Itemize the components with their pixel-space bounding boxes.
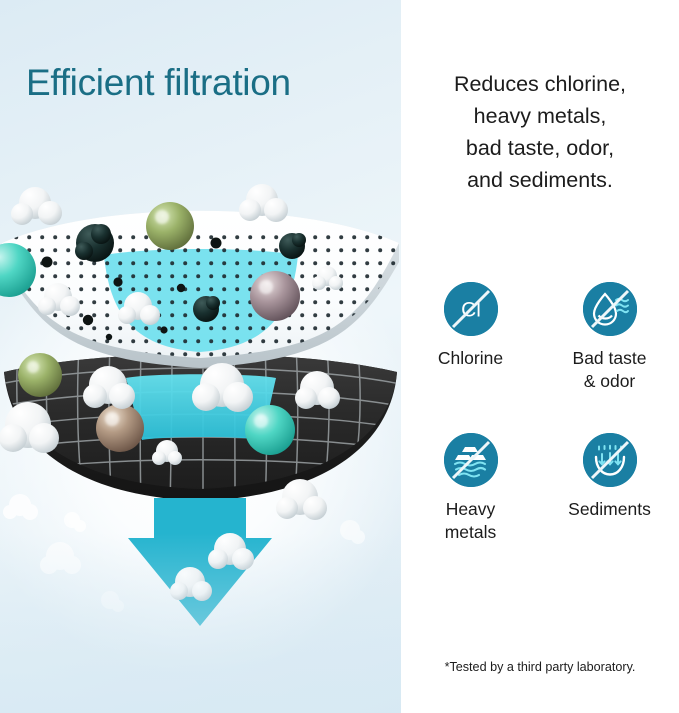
- feature-sediments-label-line-1: Sediments: [568, 498, 651, 521]
- headline-line-4: and sediments.: [401, 164, 679, 196]
- feature-bad-taste-odor-label-line-1: Bad taste: [573, 347, 647, 370]
- white-clump-faint: [340, 520, 365, 544]
- product-feature-graphic: Efficient filtration Reduces chlorine, h…: [0, 0, 679, 713]
- feature-chlorine: Cl Chlorine: [401, 282, 540, 393]
- feature-heavy-metals: Heavy metals: [401, 433, 540, 544]
- feature-heavy-metals-label-line-2: metals: [445, 521, 497, 544]
- particle-sphere: [245, 405, 295, 455]
- white-clump-faint: [40, 542, 81, 574]
- particle-sphere: [96, 404, 144, 452]
- feature-bad-taste-odor-label-line-2: & odor: [573, 370, 647, 393]
- particle-sphere: [18, 353, 62, 397]
- feature-row-1: Cl Chlorine: [401, 282, 679, 393]
- illustration-panel: Efficient filtration: [0, 0, 401, 713]
- heavy-metals-blocked-icon: [444, 433, 498, 487]
- bad-taste-odor-blocked-icon: [583, 282, 637, 336]
- feature-grid: Cl Chlorine: [401, 282, 679, 544]
- particle-sphere: [146, 202, 194, 250]
- white-clump-faint: [64, 512, 86, 532]
- chlorine-blocked-icon: Cl: [444, 282, 498, 336]
- feature-sediments-label: Sediments: [568, 498, 651, 521]
- headline-line-1: Reduces chlorine,: [401, 68, 679, 100]
- feature-sediments: Sediments: [540, 433, 679, 544]
- footnote: *Tested by a third party laboratory.: [401, 660, 679, 674]
- white-clump-faint: [3, 494, 38, 520]
- feature-chlorine-label: Chlorine: [438, 347, 503, 370]
- feature-heavy-metals-label-line-1: Heavy: [445, 498, 497, 521]
- feature-bad-taste-odor: Bad taste & odor: [540, 282, 679, 393]
- headline: Reduces chlorine, heavy metals, bad tast…: [401, 68, 679, 196]
- water-filter-layers-illustration: [0, 0, 401, 713]
- feature-bad-taste-odor-label: Bad taste & odor: [573, 347, 647, 393]
- headline-line-3: bad taste, odor,: [401, 132, 679, 164]
- benefits-panel: Reduces chlorine, heavy metals, bad tast…: [401, 0, 679, 713]
- page-title: Efficient filtration: [26, 62, 291, 104]
- particle-sphere: [250, 271, 300, 321]
- white-clump: [11, 187, 62, 225]
- sediments-blocked-icon: [583, 433, 637, 487]
- feature-row-2: Heavy metals: [401, 433, 679, 544]
- feature-heavy-metals-label: Heavy metals: [445, 498, 497, 544]
- headline-line-2: heavy metals,: [401, 100, 679, 132]
- feature-chlorine-label-line-1: Chlorine: [438, 347, 503, 370]
- white-clump-faint: [101, 591, 124, 612]
